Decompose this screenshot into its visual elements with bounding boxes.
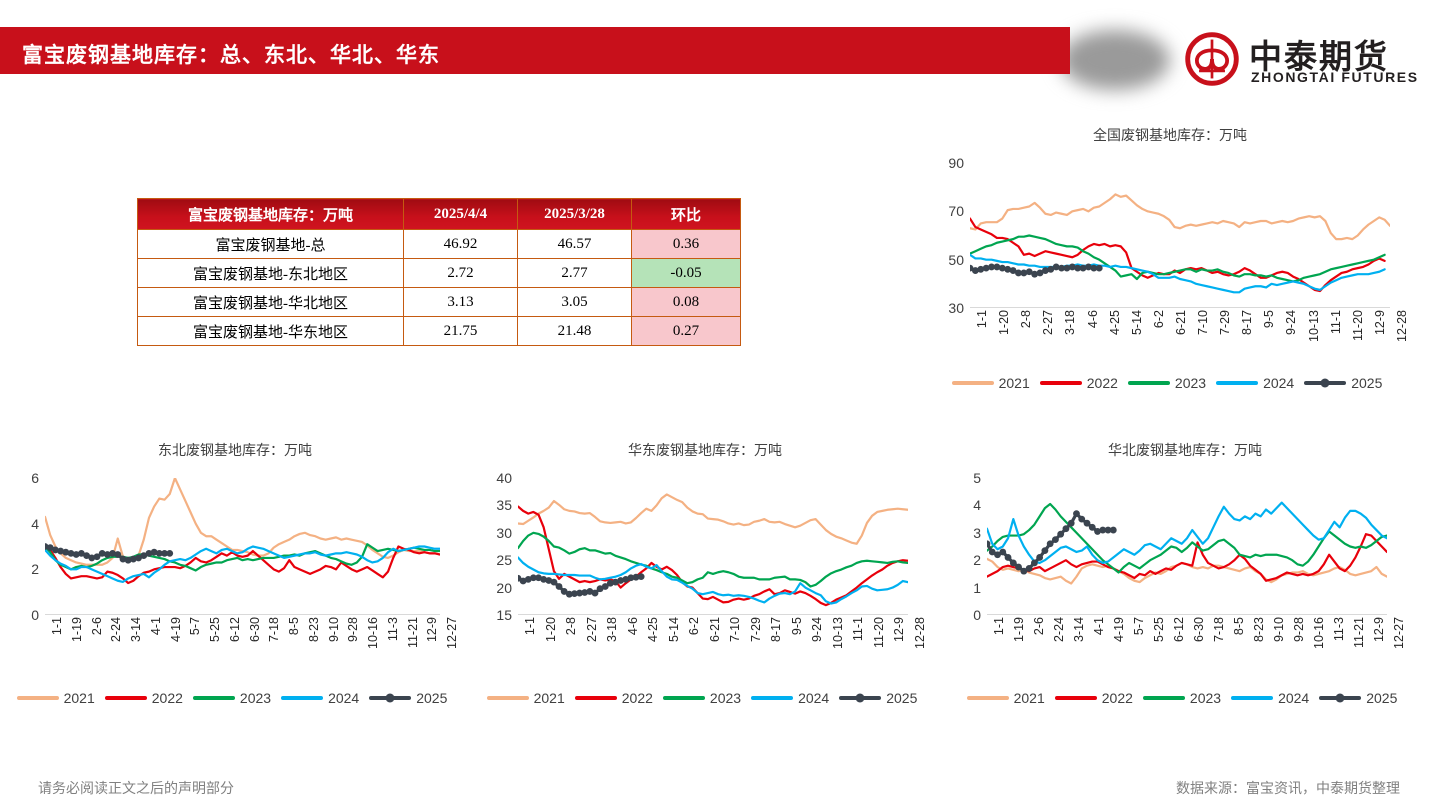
series-marker-2025 <box>999 549 1006 556</box>
x-axis-tick: 6-30 <box>248 617 262 642</box>
chart-lines <box>45 478 440 615</box>
y-axis-tick: 6 <box>31 470 39 486</box>
legend-swatch-2023 <box>663 696 705 700</box>
series-marker-2025 <box>1057 531 1064 538</box>
x-axis-tick: 6-12 <box>1172 617 1186 642</box>
footer-source: 数据来源：富宝资讯，中泰期货整理 <box>1176 778 1400 798</box>
legend-swatch-2023 <box>1128 381 1170 385</box>
x-axis-tick: 4-1 <box>149 617 163 635</box>
series-line-2022 <box>970 219 1385 292</box>
legend-item-2023[interactable]: 2023 <box>1128 375 1206 391</box>
x-axis-tick: 9-10 <box>1272 617 1286 642</box>
x-axis-tick: 8-5 <box>287 617 301 635</box>
row-value-date2-north: 3.05 <box>518 288 632 317</box>
legend-item-2024[interactable]: 2024 <box>1216 375 1294 391</box>
y-axis-tick: 2 <box>973 552 981 568</box>
x-axis-tick: 1-19 <box>70 617 84 642</box>
chart-north-inventory: 华北废钢基地库存：万吨 0123451-11-192-62-243-144-14… <box>945 440 1425 615</box>
x-axis-tick: 12-9 <box>892 617 906 642</box>
x-axis-tick: 4-25 <box>646 617 660 642</box>
plot-area-east: 1520253035401-11-202-82-273-184-64-255-1… <box>518 478 908 615</box>
zhongtai-logo-icon <box>1185 32 1239 86</box>
chart-national-inventory: 全国废钢基地库存：万吨 305070901-11-202-82-273-184-… <box>930 125 1410 308</box>
legend-swatch-2023 <box>193 696 235 700</box>
chart-title-north: 华北废钢基地库存：万吨 <box>945 440 1425 460</box>
legend-swatch-2021 <box>967 696 1009 700</box>
x-axis-tick: 1-1 <box>992 617 1006 635</box>
series-marker-2025 <box>1005 554 1012 561</box>
logo-english-name: ZHONGTAI FUTURES <box>1251 69 1419 85</box>
legend-swatch-2022 <box>575 696 617 700</box>
x-axis-tick: 8-17 <box>769 617 783 642</box>
legend-swatch-2022 <box>105 696 147 700</box>
chart-east-inventory: 华东废钢基地库存：万吨 1520253035401-11-202-82-273-… <box>470 440 940 615</box>
legend-item-2021[interactable]: 2021 <box>967 690 1045 706</box>
y-axis-tick: 1 <box>973 580 981 596</box>
legend-label-2021: 2021 <box>1014 690 1045 706</box>
y-axis-tick: 4 <box>31 516 39 532</box>
chart-lines <box>518 478 908 615</box>
x-axis-tick: 1-20 <box>544 617 558 642</box>
x-axis-tick: 3-14 <box>129 617 143 642</box>
series-line-2021 <box>970 194 1390 239</box>
chart-title-northeast: 东北废钢基地库存：万吨 <box>0 440 470 460</box>
x-axis-tick: 1-19 <box>1012 617 1026 642</box>
legend-marker-2025 <box>1336 694 1345 703</box>
legend-swatch-2023 <box>1143 696 1185 700</box>
y-axis-tick: 25 <box>496 552 512 568</box>
x-axis-tick: 3-14 <box>1072 617 1086 642</box>
x-axis-tick: 11-1 <box>851 617 865 641</box>
x-axis-tick: 11-3 <box>1332 617 1346 641</box>
legend-item-2025[interactable]: 2025 <box>839 690 917 706</box>
x-axis-tick: 6-21 <box>1174 310 1188 335</box>
x-axis-tick: 2-27 <box>585 617 599 642</box>
row-value-date1-east: 21.75 <box>404 317 518 346</box>
y-axis-tick: 50 <box>948 252 964 268</box>
x-axis-tick: 6-21 <box>708 617 722 642</box>
series-marker-2025 <box>1068 520 1075 527</box>
legend-swatch-2024 <box>751 696 793 700</box>
x-axis-tick: 5-25 <box>1152 617 1166 642</box>
row-change-total: 0.36 <box>632 230 741 259</box>
x-axis-tick: 11-3 <box>386 617 400 641</box>
series-marker-2025 <box>1073 510 1080 517</box>
table-row: 富宝废钢基地-华北地区 3.13 3.05 0.08 <box>138 288 741 317</box>
y-axis-tick: 20 <box>496 580 512 596</box>
chart-title-national: 全国废钢基地库存：万吨 <box>930 125 1410 145</box>
x-axis-tick: 2-8 <box>1019 310 1033 328</box>
x-axis-tick: 6-12 <box>228 617 242 642</box>
series-marker-2025 <box>1031 560 1038 567</box>
legend-label-2025: 2025 <box>1351 375 1382 391</box>
series-marker-2025 <box>1026 565 1033 572</box>
legend-label-2022: 2022 <box>152 690 183 706</box>
x-axis-tick: 7-29 <box>1218 310 1232 335</box>
x-axis-tick: 10-13 <box>831 617 845 649</box>
y-axis-tick: 15 <box>496 607 512 623</box>
legend-label-2022: 2022 <box>622 690 653 706</box>
x-axis-tick: 4-19 <box>1112 617 1126 642</box>
x-axis-tick: 12-9 <box>425 617 439 642</box>
legend-label-2025: 2025 <box>1366 690 1397 706</box>
legend-swatch-2025 <box>1304 381 1346 385</box>
series-marker-2025 <box>1063 525 1070 532</box>
x-axis-tick: 5-14 <box>1130 310 1144 335</box>
legend-item-2021[interactable]: 2021 <box>952 375 1030 391</box>
row-value-date1-total: 46.92 <box>404 230 518 259</box>
legend-item-2022[interactable]: 2022 <box>575 690 653 706</box>
chart-legend-east: 20212022202320242025 <box>490 690 920 706</box>
x-axis-tick: 5-25 <box>208 617 222 642</box>
x-axis-tick: 7-18 <box>1212 617 1226 642</box>
x-axis-tick: 7-18 <box>267 617 281 642</box>
x-axis-tick: 12-28 <box>1395 310 1409 342</box>
series-marker-2025 <box>551 579 558 586</box>
series-marker-2025 <box>114 551 121 558</box>
x-axis-tick: 12-28 <box>913 617 927 649</box>
legend-item-2021[interactable]: 2021 <box>487 690 565 706</box>
table-header-row: 富宝废钢基地库存：万吨 2025/4/4 2025/3/28 环比 <box>138 199 741 230</box>
x-axis-tick: 2-24 <box>1052 617 1066 642</box>
y-axis-tick: 0 <box>31 607 39 623</box>
x-axis-tick: 9-28 <box>1292 617 1306 642</box>
legend-swatch-2022 <box>1040 381 1082 385</box>
chart-title-east: 华东废钢基地库存：万吨 <box>470 440 940 460</box>
legend-item-2021[interactable]: 2021 <box>17 690 95 706</box>
y-axis-tick: 30 <box>948 300 964 316</box>
x-axis-tick: 2-24 <box>109 617 123 642</box>
series-marker-2025 <box>1036 554 1043 561</box>
legend-label-2022: 2022 <box>1102 690 1133 706</box>
row-label-east: 富宝废钢基地-华东地区 <box>138 317 404 346</box>
row-label-north: 富宝废钢基地-华北地区 <box>138 288 404 317</box>
x-axis-tick: 12-27 <box>1392 617 1406 649</box>
x-axis-tick: 10-16 <box>366 617 380 649</box>
legend-item-2023[interactable]: 2023 <box>663 690 741 706</box>
y-axis-tick: 2 <box>31 561 39 577</box>
legend-item-2024[interactable]: 2024 <box>281 690 359 706</box>
x-axis-tick: 12-9 <box>1372 617 1386 642</box>
chart-lines <box>970 163 1390 308</box>
x-axis-tick: 6-2 <box>687 617 701 635</box>
x-axis-tick: 4-1 <box>1092 617 1106 635</box>
chart-northeast-inventory: 东北废钢基地库存：万吨 02461-11-192-62-243-144-14-1… <box>0 440 470 615</box>
x-axis-tick: 12-9 <box>1373 310 1387 335</box>
row-change-north: 0.08 <box>632 288 741 317</box>
legend-item-2023[interactable]: 2023 <box>193 690 271 706</box>
legend-label-2025: 2025 <box>416 690 447 706</box>
legend-swatch-2022 <box>1055 696 1097 700</box>
x-axis-tick: 11-21 <box>1352 617 1366 648</box>
legend-item-2025[interactable]: 2025 <box>369 690 447 706</box>
x-axis-tick: 1-1 <box>50 617 64 635</box>
y-axis-tick: 30 <box>496 525 512 541</box>
plot-area-national: 305070901-11-202-82-273-184-64-255-146-2… <box>970 163 1390 308</box>
legend-item-2022[interactable]: 2022 <box>105 690 183 706</box>
legend-label-2023: 2023 <box>710 690 741 706</box>
page-title: 富宝废钢基地库存：总、东北、华北、华东 <box>22 39 440 69</box>
x-axis-tick: 5-14 <box>667 617 681 642</box>
series-marker-2025 <box>1096 265 1103 272</box>
x-axis-tick: 9-5 <box>790 617 804 635</box>
legend-label-2024: 2024 <box>1278 690 1309 706</box>
series-marker-2025 <box>166 550 173 557</box>
legend-item-2022[interactable]: 2022 <box>1055 690 1133 706</box>
x-axis-tick: 4-6 <box>1086 310 1100 328</box>
legend-label-2023: 2023 <box>240 690 271 706</box>
legend-label-2025: 2025 <box>886 690 917 706</box>
x-axis-tick: 3-18 <box>605 617 619 642</box>
x-axis-tick: 10-13 <box>1307 310 1321 342</box>
x-axis-tick: 2-8 <box>564 617 578 635</box>
table-row: 富宝废钢基地-总 46.92 46.57 0.36 <box>138 230 741 259</box>
plot-area-northeast: 02461-11-192-62-243-144-14-195-75-256-12… <box>45 478 440 615</box>
x-axis-tick: 1-1 <box>975 310 989 328</box>
y-axis-tick: 0 <box>973 607 981 623</box>
series-line-2024 <box>987 503 1387 563</box>
row-change-northeast: -0.05 <box>632 259 741 288</box>
series-marker-2025 <box>556 583 563 590</box>
x-axis-tick: 7-29 <box>749 617 763 642</box>
legend-label-2023: 2023 <box>1190 690 1221 706</box>
legend-label-2024: 2024 <box>798 690 829 706</box>
legend-swatch-2025 <box>839 696 881 700</box>
series-marker-2025 <box>1052 536 1059 543</box>
legend-label-2024: 2024 <box>328 690 359 706</box>
series-line-2022 <box>518 507 908 606</box>
legend-swatch-2021 <box>17 696 59 700</box>
legend-swatch-2024 <box>1216 381 1258 385</box>
x-axis-tick: 8-5 <box>1232 617 1246 635</box>
legend-swatch-2021 <box>952 381 994 385</box>
legend-swatch-2025 <box>369 696 411 700</box>
x-axis-tick: 5-7 <box>188 617 202 635</box>
y-axis-tick: 4 <box>973 497 981 513</box>
x-axis-tick: 4-19 <box>169 617 183 642</box>
row-value-date2-northeast: 2.77 <box>518 259 632 288</box>
x-axis-tick: 9-24 <box>810 617 824 642</box>
table-row: 富宝废钢基地-华东地区 21.75 21.48 0.27 <box>138 317 741 346</box>
legend-label-2024: 2024 <box>1263 375 1294 391</box>
legend-label-2021: 2021 <box>534 690 565 706</box>
x-axis-tick: 2-6 <box>90 617 104 635</box>
legend-item-2025[interactable]: 2025 <box>1304 375 1382 391</box>
x-axis-tick: 3-18 <box>1063 310 1077 335</box>
footer-disclaimer: 请务必阅读正文之后的声明部分 <box>38 778 234 798</box>
x-axis-tick: 9-28 <box>346 617 360 642</box>
x-axis-tick: 8-23 <box>307 617 321 642</box>
legend-swatch-2021 <box>487 696 529 700</box>
table-row: 富宝废钢基地-东北地区 2.72 2.77 -0.05 <box>138 259 741 288</box>
y-axis-tick: 70 <box>948 203 964 219</box>
row-value-date1-northeast: 2.72 <box>404 259 518 288</box>
y-axis-tick: 90 <box>948 155 964 171</box>
plot-area-north: 0123451-11-192-62-243-144-14-195-75-256-… <box>987 478 1387 615</box>
legend-label-2023: 2023 <box>1175 375 1206 391</box>
legend-marker-2025 <box>386 694 395 703</box>
legend-swatch-2024 <box>1231 696 1273 700</box>
legend-marker-2025 <box>1321 379 1330 388</box>
x-axis-tick: 12-27 <box>445 617 459 649</box>
row-label-northeast: 富宝废钢基地-东北地区 <box>138 259 404 288</box>
table-header-cell-date1: 2025/4/4 <box>404 199 518 230</box>
legend-item-2024[interactable]: 2024 <box>751 690 829 706</box>
x-axis-tick: 1-20 <box>997 310 1011 335</box>
x-axis-tick: 9-10 <box>327 617 341 642</box>
x-axis-tick: 9-24 <box>1284 310 1298 335</box>
row-value-date2-total: 46.57 <box>518 230 632 259</box>
x-axis-tick: 6-2 <box>1152 310 1166 328</box>
series-marker-2025 <box>1041 547 1048 554</box>
x-axis-tick: 9-5 <box>1262 310 1276 328</box>
legend-marker-2025 <box>856 694 865 703</box>
x-axis-tick: 7-10 <box>728 617 742 642</box>
x-axis-tick: 8-17 <box>1240 310 1254 335</box>
chart-legend-national: 20212022202320242025 <box>950 375 1390 391</box>
chart-legend-north: 20212022202320242025 <box>965 690 1405 706</box>
x-axis-tick: 11-20 <box>872 617 886 648</box>
x-axis-tick: 1-1 <box>523 617 537 635</box>
legend-item-2022[interactable]: 2022 <box>1040 375 1118 391</box>
x-axis-tick: 2-27 <box>1041 310 1055 335</box>
x-axis-tick: 11-20 <box>1351 310 1365 341</box>
row-change-east: 0.27 <box>632 317 741 346</box>
legend-item-2024[interactable]: 2024 <box>1231 690 1309 706</box>
table-header-cell-date2: 2025/3/28 <box>518 199 632 230</box>
x-axis-tick: 4-6 <box>626 617 640 635</box>
x-axis-tick: 11-1 <box>1329 310 1343 334</box>
series-marker-2025 <box>638 573 645 580</box>
row-label-total: 富宝废钢基地-总 <box>138 230 404 259</box>
x-axis-tick: 6-30 <box>1192 617 1206 642</box>
header-shadow <box>1060 30 1170 90</box>
y-axis-tick: 3 <box>973 525 981 541</box>
legend-item-2023[interactable]: 2023 <box>1143 690 1221 706</box>
row-value-date2-east: 21.48 <box>518 317 632 346</box>
series-marker-2025 <box>1110 527 1117 534</box>
legend-item-2025[interactable]: 2025 <box>1319 690 1397 706</box>
row-value-date1-north: 3.13 <box>404 288 518 317</box>
legend-swatch-2025 <box>1319 696 1361 700</box>
chart-legend-northeast: 20212022202320242025 <box>20 690 450 706</box>
table-header-cell-change: 环比 <box>632 199 741 230</box>
table-header-cell-metric: 富宝废钢基地库存：万吨 <box>138 199 404 230</box>
x-axis-tick: 2-6 <box>1032 617 1046 635</box>
x-axis-tick: 8-23 <box>1252 617 1266 642</box>
series-line-2021 <box>518 494 908 543</box>
legend-label-2021: 2021 <box>999 375 1030 391</box>
x-axis-tick: 11-21 <box>406 617 420 648</box>
x-axis-tick: 7-10 <box>1196 310 1210 335</box>
y-axis-tick: 5 <box>973 470 981 486</box>
y-axis-tick: 35 <box>496 497 512 513</box>
x-axis-tick: 4-25 <box>1108 310 1122 335</box>
legend-label-2021: 2021 <box>64 690 95 706</box>
y-axis-tick: 40 <box>496 470 512 486</box>
x-axis-tick: 5-7 <box>1132 617 1146 635</box>
chart-lines <box>987 478 1387 615</box>
inventory-summary-table: 富宝废钢基地库存：万吨 2025/4/4 2025/3/28 环比 富宝废钢基地… <box>137 198 741 346</box>
x-axis-tick: 10-16 <box>1312 617 1326 649</box>
company-logo: 中泰期货 ZHONGTAI FUTURES <box>1185 28 1435 90</box>
series-marker-2025 <box>592 590 599 597</box>
legend-label-2022: 2022 <box>1087 375 1118 391</box>
legend-swatch-2024 <box>281 696 323 700</box>
